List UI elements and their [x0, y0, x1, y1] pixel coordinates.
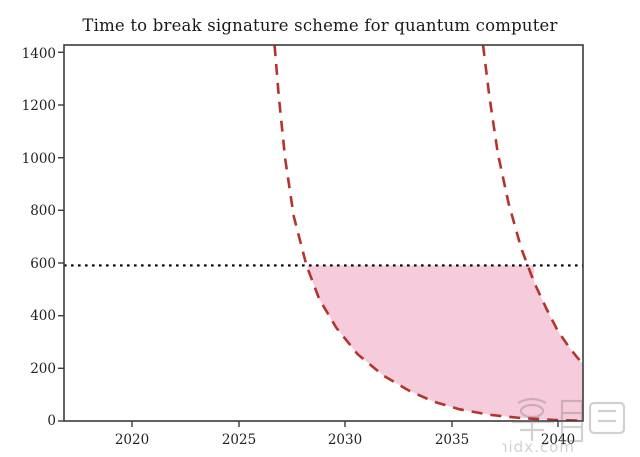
- plot-canvas: [0, 0, 640, 457]
- x-tick-marks: [132, 421, 558, 427]
- y-tick-marks: [58, 52, 64, 421]
- chart-figure: Time to break signature scheme for quant…: [0, 0, 640, 457]
